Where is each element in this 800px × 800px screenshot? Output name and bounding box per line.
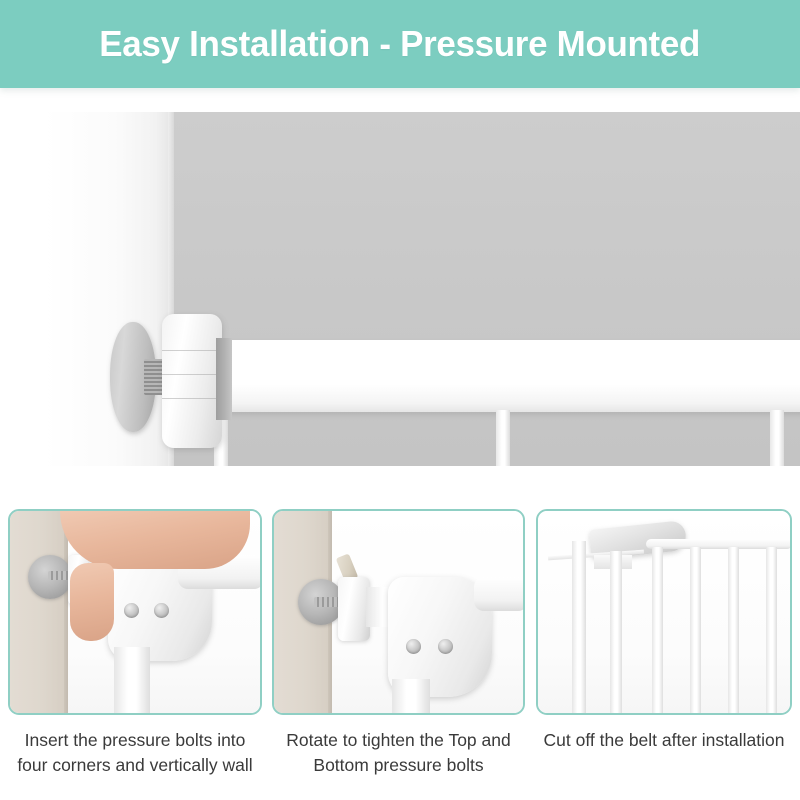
pressure-bolt-collar: [216, 338, 232, 420]
pressure-bolt-knob: [162, 314, 222, 448]
hero-wall-background: [172, 112, 800, 466]
gate-vertical-post: [392, 679, 430, 713]
gate-vertical-bar: [496, 410, 510, 466]
gate-horizontal-rail: [192, 340, 800, 412]
gate-vertical-bar: [610, 551, 622, 713]
step-panel-3: [536, 509, 792, 715]
step-2-image: [274, 511, 523, 713]
gate-vertical-post: [114, 647, 150, 713]
hand-fingers: [60, 511, 250, 569]
wall-surface: [10, 511, 68, 713]
step-panel-1: [8, 509, 262, 715]
bracket-rivet: [124, 603, 139, 618]
gate-vertical-bar: [770, 410, 784, 466]
step-3-caption: Cut off the belt after installation: [532, 728, 796, 753]
banner-title: Easy Installation - Pressure Mounted: [100, 23, 701, 65]
hero-door-jamb: [44, 112, 174, 466]
hero-product-photo: [44, 112, 800, 466]
step-2-caption: Rotate to tighten the Top and Bottom pre…: [272, 728, 525, 778]
header-banner: Easy Installation - Pressure Mounted: [0, 0, 800, 88]
step-panel-2: [272, 509, 525, 715]
step-1-image: [10, 511, 260, 713]
product-infographic: Easy Installation - Pressure Mounted: [0, 0, 800, 800]
gate-vertical-bar: [690, 547, 701, 713]
gate-vertical-bar: [652, 547, 663, 713]
hand-thumb: [70, 563, 114, 641]
knob-ridge: [162, 350, 222, 351]
bracket-rivet: [406, 639, 421, 654]
gate-vertical-bar: [766, 547, 777, 713]
gate-top-rail: [474, 577, 523, 611]
bracket-rivet: [438, 639, 453, 654]
gate-vertical-bar: [572, 541, 586, 713]
step-1-caption: Insert the pressure bolts into four corn…: [8, 728, 262, 778]
step-3-image: [538, 511, 790, 713]
bracket-rivet: [154, 603, 169, 618]
gate-vertical-bar: [728, 547, 739, 713]
knob-ridge: [162, 398, 222, 399]
knob-ridge: [162, 374, 222, 375]
